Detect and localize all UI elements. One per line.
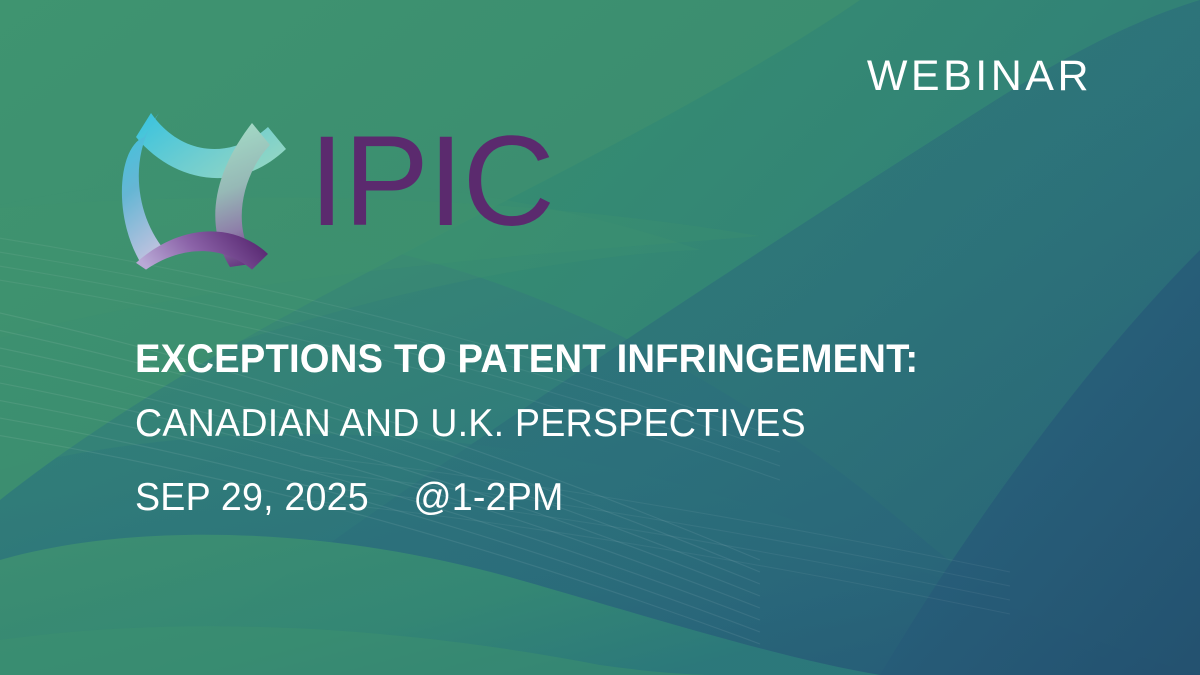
headline-line-1: EXCEPTIONS TO PATENT INFRINGEMENT: [135, 338, 1090, 381]
event-time: @1-2PM [413, 476, 563, 519]
ipic-wordmark: IPIC [309, 118, 554, 246]
headline-line-2: CANADIAN AND U.K. PERSPECTIVES [135, 403, 1100, 445]
event-datetime: SEP 29, 2025 @1-2PM [135, 477, 1100, 519]
ipic-logo-lockup[interactable]: IPIC [118, 100, 554, 270]
webinar-banner: WEBINAR [0, 0, 1200, 675]
webinar-eyebrow-label: WEBINAR [867, 55, 1092, 98]
event-date: SEP 29, 2025 [135, 476, 369, 519]
ipic-pinwheel-mark [118, 99, 293, 271]
headline-block: EXCEPTIONS TO PATENT INFRINGEMENT: CANAD… [135, 338, 1135, 519]
